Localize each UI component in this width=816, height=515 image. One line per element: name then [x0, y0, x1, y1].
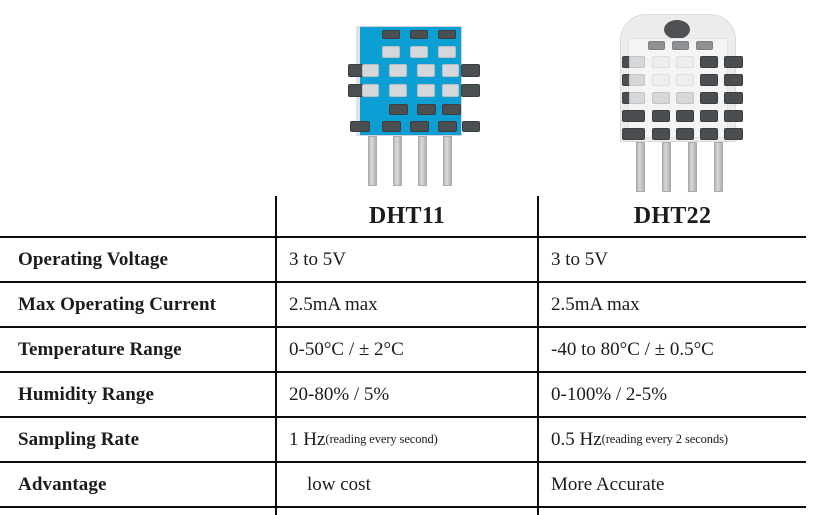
row-label: Temperature Range — [0, 328, 275, 371]
dht22-vent — [676, 56, 694, 68]
dht11-body — [356, 26, 462, 136]
row-value-dht11: low cost — [277, 463, 537, 506]
dht22-vent — [724, 92, 743, 104]
dht11-vent — [389, 64, 407, 77]
dht22-vent — [724, 128, 743, 140]
dht11-vent — [389, 104, 408, 115]
dht11-vent — [350, 121, 370, 132]
table-header-row: DHT11 DHT22 — [0, 196, 806, 238]
dht22-vent — [676, 92, 694, 104]
dht22-pin — [662, 142, 671, 192]
dht22-vent — [700, 56, 718, 68]
row-label: Advantage — [0, 463, 275, 506]
table-row: Max Operating Current 2.5mA max 2.5mA ma… — [0, 283, 806, 328]
table-row-partial — [0, 508, 806, 515]
dht11-vent — [362, 84, 379, 97]
row-value-dht11: 1 Hz (reading every second) — [277, 418, 537, 461]
dht11-vent — [462, 121, 480, 132]
row-value-dht22: 3 to 5V — [539, 238, 806, 281]
dht22-vent — [724, 74, 743, 86]
dht11-sensor-image — [330, 8, 480, 198]
dht22-vent — [629, 92, 645, 104]
dht11-vent — [438, 121, 457, 132]
table-row: Humidity Range 20-80% / 5% 0-100% / 2-5% — [0, 373, 806, 418]
row-value-dht22: More Accurate — [539, 463, 806, 506]
row-value-dht11: 20-80% / 5% — [277, 373, 537, 416]
dht22-vent — [696, 41, 713, 50]
dht11-vent — [417, 64, 435, 77]
dht22-vent — [629, 74, 645, 86]
dht11-pin — [393, 136, 402, 186]
column-divider — [537, 508, 539, 515]
header-feature-cell — [0, 196, 275, 236]
dht11-vent — [382, 46, 400, 58]
dht22-vent — [700, 74, 718, 86]
dht11-vent — [389, 84, 407, 97]
table-row: Temperature Range 0-50°C / ± 2°C -40 to … — [0, 328, 806, 373]
table-row: Advantage low cost More Accurate — [0, 463, 806, 508]
dht11-pin — [368, 136, 377, 186]
sampling-rate-dht11-note: (reading every second) — [325, 432, 437, 447]
dht22-vent — [652, 128, 670, 140]
sampling-rate-dht22-value: 0.5 Hz — [551, 429, 602, 451]
row-label: Max Operating Current — [0, 283, 275, 326]
dht22-vent — [672, 41, 689, 50]
dht11-vent — [417, 104, 436, 115]
dht11-vent — [362, 64, 379, 77]
dht22-pin — [688, 142, 697, 192]
dht11-vent — [438, 46, 456, 58]
dht11-pin — [418, 136, 427, 186]
dht22-vent — [622, 128, 645, 140]
dht11-vent — [410, 46, 428, 58]
dht22-sensor-image — [600, 8, 750, 198]
row-value-dht11: 0-50°C / ± 2°C — [277, 328, 537, 371]
header-dht11: DHT11 — [277, 196, 537, 236]
dht22-vent — [648, 41, 665, 50]
dht22-vent — [700, 128, 718, 140]
dht11-vent — [382, 30, 400, 39]
dht22-vent — [676, 128, 694, 140]
row-value-dht11: 3 to 5V — [277, 238, 537, 281]
dht11-vent — [438, 30, 456, 39]
dht22-vent — [700, 92, 718, 104]
sampling-rate-dht11-value: 1 Hz — [289, 429, 325, 451]
dht11-vent — [461, 84, 480, 97]
table-row: Operating Voltage 3 to 5V 3 to 5V — [0, 238, 806, 283]
dht11-vent — [410, 30, 428, 39]
dht22-vent — [652, 74, 670, 86]
sensor-comparison-table: DHT11 DHT22 Operating Voltage 3 to 5V 3 … — [0, 196, 816, 515]
dht22-face — [628, 38, 728, 138]
row-value-dht22: 2.5mA max — [539, 283, 806, 326]
dht22-pin — [636, 142, 645, 192]
dht22-vent — [629, 56, 645, 68]
dht22-vent — [676, 74, 694, 86]
column-divider — [275, 508, 277, 515]
dht22-top-dot — [664, 20, 690, 39]
dht22-vent — [622, 110, 645, 122]
page-root: DHT11 DHT22 Operating Voltage 3 to 5V 3 … — [0, 0, 816, 499]
dht11-vent — [442, 64, 459, 77]
dht11-body-highlight — [356, 26, 360, 136]
dht22-pin — [714, 142, 723, 192]
row-value-dht11: 2.5mA max — [277, 283, 537, 326]
dht11-pin — [443, 136, 452, 186]
dht11-vent — [442, 104, 461, 115]
row-value-dht22: 0-100% / 2-5% — [539, 373, 806, 416]
table-row: Sampling Rate 1 Hz (reading every second… — [0, 418, 806, 463]
dht11-vent — [461, 64, 480, 77]
dht11-vent — [382, 121, 401, 132]
row-value-dht22: -40 to 80°C / ± 0.5°C — [539, 328, 806, 371]
row-label: Humidity Range — [0, 373, 275, 416]
dht11-vent — [417, 84, 435, 97]
dht11-vent — [442, 84, 459, 97]
dht22-vent — [652, 110, 670, 122]
dht22-vent — [676, 110, 694, 122]
dht22-vent — [652, 56, 670, 68]
dht22-vent — [724, 110, 743, 122]
row-label: Sampling Rate — [0, 418, 275, 461]
dht22-vent — [700, 110, 718, 122]
header-dht22: DHT22 — [539, 196, 806, 236]
row-value-dht22: 0.5 Hz (reading every 2 seconds) — [539, 418, 806, 461]
row-label: Operating Voltage — [0, 238, 275, 281]
sampling-rate-dht22-note: (reading every 2 seconds) — [602, 432, 728, 447]
dht22-vent — [724, 56, 743, 68]
dht22-vent — [652, 92, 670, 104]
dht11-vent — [410, 121, 429, 132]
